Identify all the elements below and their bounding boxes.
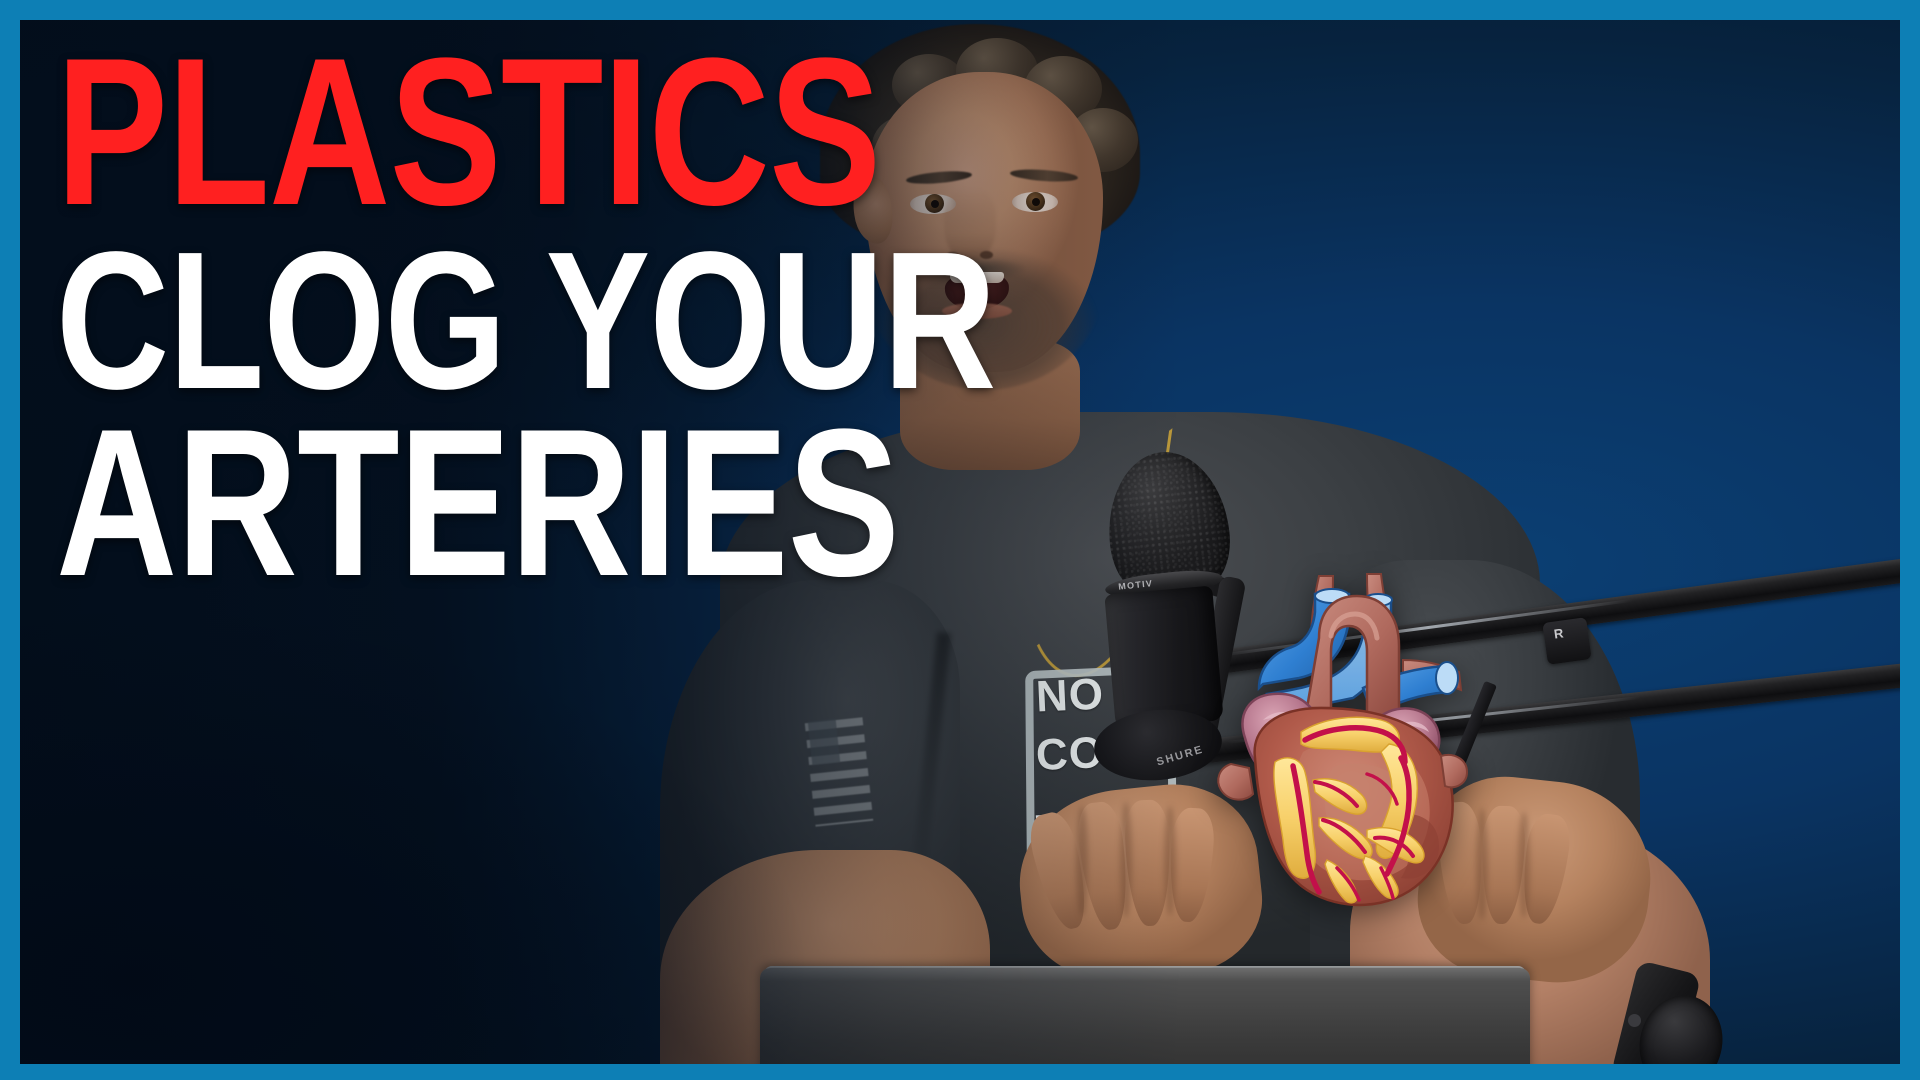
finger-gap	[1120, 802, 1132, 918]
title-line-arteries: ARTERIES	[56, 413, 760, 594]
boom-clip-label: R	[1553, 625, 1564, 641]
finger-gap	[1518, 812, 1530, 918]
laptop-screen-back	[760, 968, 1530, 1064]
thumbnail-title: PLASTICS CLOG YOUR ARTERIES	[56, 42, 936, 594]
watch-crown	[1628, 1014, 1641, 1027]
microphone-body	[1104, 586, 1223, 730]
pupil-right	[1032, 198, 1040, 206]
flag-patch-canton	[808, 719, 840, 766]
title-line-clog-your: CLOG YOUR	[56, 237, 760, 406]
thumbnail-stage: NO COMP T	[20, 20, 1900, 1064]
finger-gap	[1076, 806, 1088, 916]
finger-gap	[1164, 806, 1176, 916]
shirt-text-line-1: NO	[1035, 674, 1105, 719]
heart-illustration	[1215, 568, 1480, 913]
boom-cable-clip	[1542, 617, 1591, 665]
video-thumbnail: NO COMP T	[0, 0, 1920, 1080]
title-line-plastics: PLASTICS	[56, 42, 760, 223]
